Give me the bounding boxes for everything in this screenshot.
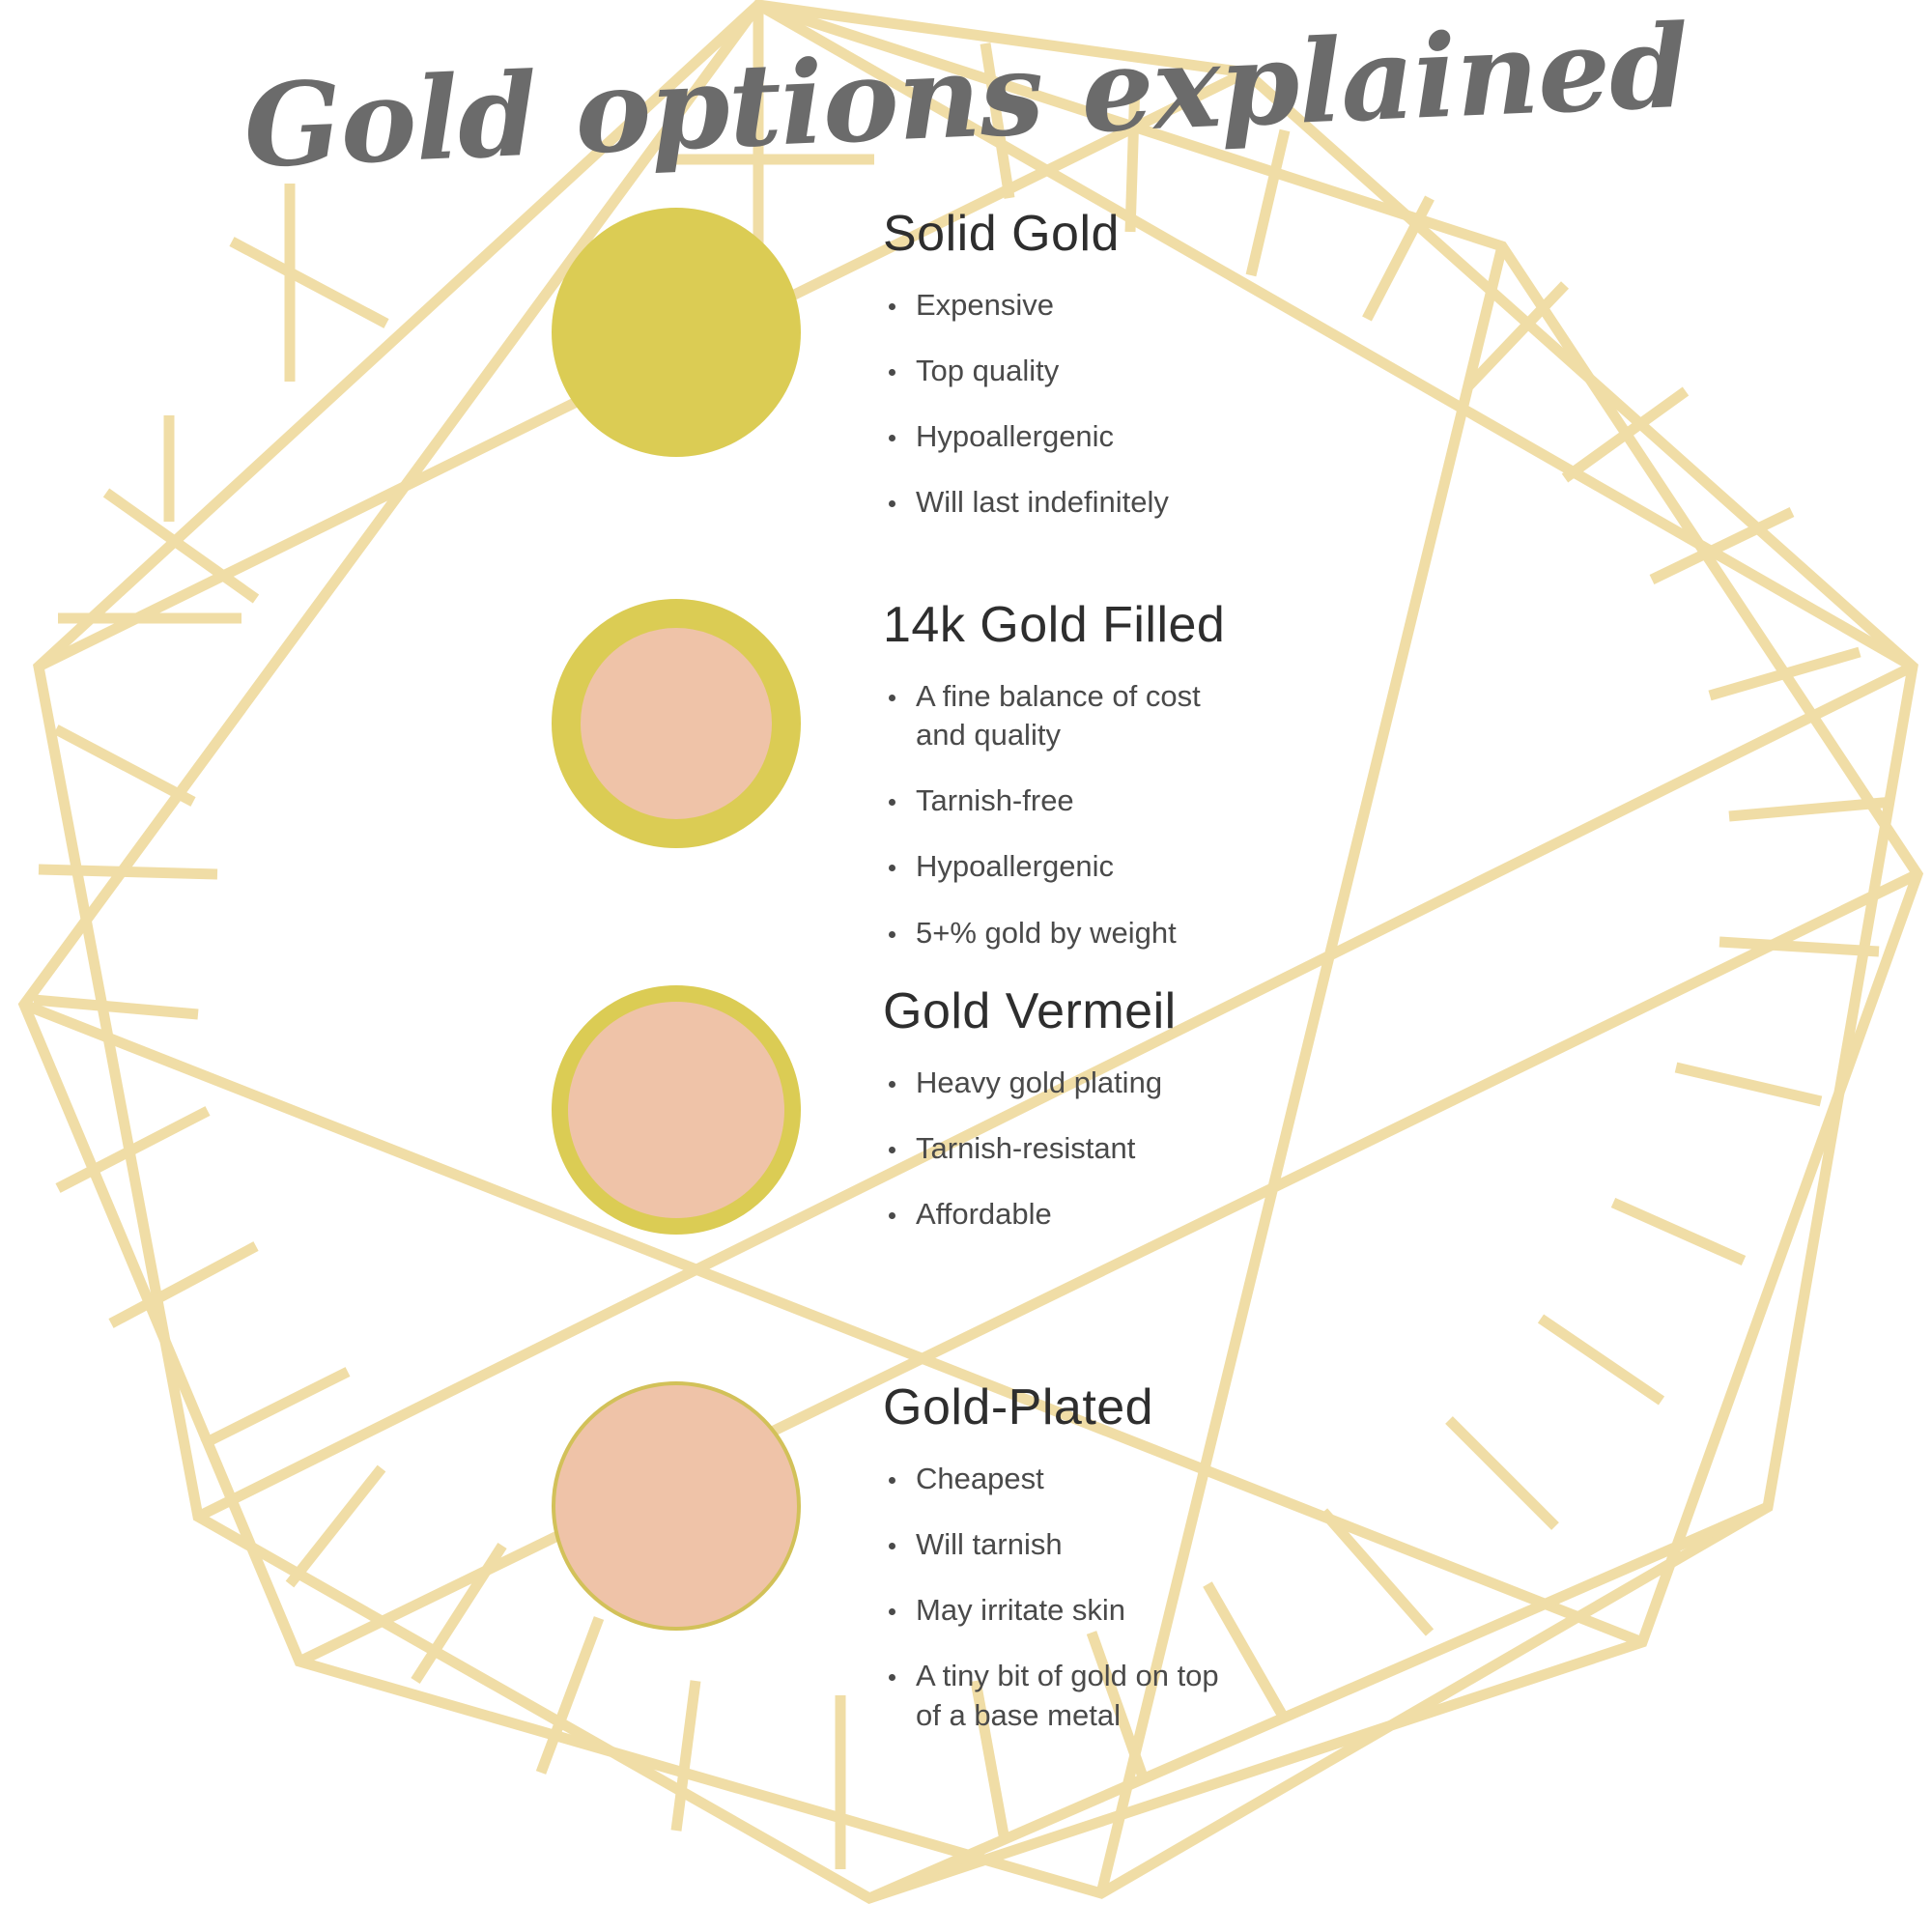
section-heading: 14k Gold Filled bbox=[883, 599, 1526, 652]
bullet-item: Tarnish-resistant bbox=[883, 1129, 1235, 1168]
gold-plated-swatch bbox=[552, 1381, 801, 1631]
bullet-item: Heavy gold plating bbox=[883, 1064, 1235, 1102]
bullet-item: Cheapest bbox=[883, 1460, 1235, 1498]
section-gold-plated: Gold-Plated Cheapest Will tarnish May ir… bbox=[502, 1381, 1526, 1735]
bullet-item: Will last indefinitely bbox=[883, 483, 1235, 522]
bullet-list: A fine balance of cost and quality Tarni… bbox=[883, 677, 1526, 952]
swatch-cell bbox=[502, 985, 850, 1235]
bullet-item: Top quality bbox=[883, 352, 1235, 390]
page-title: Gold options explained bbox=[0, 0, 1932, 197]
swatch-cell bbox=[502, 1381, 850, 1631]
bullet-list: Expensive Top quality Hypoallergenic Wil… bbox=[883, 286, 1526, 523]
gold-filled-swatch bbox=[552, 599, 801, 848]
section-heading: Solid Gold bbox=[883, 208, 1526, 261]
section-heading: Gold Vermeil bbox=[883, 985, 1526, 1038]
bullet-item: May irritate skin bbox=[883, 1591, 1235, 1630]
bullet-list: Heavy gold plating Tarnish-resistant Aff… bbox=[883, 1064, 1526, 1235]
bullet-item: 5+% gold by weight bbox=[883, 914, 1235, 952]
swatch-cell bbox=[502, 599, 850, 848]
bullet-item: Hypoallergenic bbox=[883, 847, 1235, 886]
bullet-item: Will tarnish bbox=[883, 1525, 1235, 1564]
infographic-page: Gold options explained Solid Gold Expens… bbox=[0, 0, 1932, 1932]
bullet-item: Expensive bbox=[883, 286, 1235, 325]
text-cell: 14k Gold Filled A fine balance of cost a… bbox=[850, 599, 1526, 952]
bullet-item: Tarnish-free bbox=[883, 781, 1235, 820]
bullet-item: A fine balance of cost and quality bbox=[883, 677, 1235, 755]
text-cell: Solid Gold Expensive Top quality Hypoall… bbox=[850, 208, 1526, 523]
section-heading: Gold-Plated bbox=[883, 1381, 1526, 1435]
section-gold-vermeil: Gold Vermeil Heavy gold plating Tarnish-… bbox=[502, 985, 1526, 1235]
bullet-item: A tiny bit of gold on top of a base meta… bbox=[883, 1657, 1235, 1735]
gold-vermeil-swatch bbox=[552, 985, 801, 1235]
bullet-list: Cheapest Will tarnish May irritate skin … bbox=[883, 1460, 1526, 1735]
swatch-cell bbox=[502, 208, 850, 457]
text-cell: Gold Vermeil Heavy gold plating Tarnish-… bbox=[850, 985, 1526, 1234]
section-solid-gold: Solid Gold Expensive Top quality Hypoall… bbox=[502, 208, 1526, 523]
bullet-item: Hypoallergenic bbox=[883, 417, 1235, 456]
bullet-item: Affordable bbox=[883, 1195, 1235, 1234]
section-14k-gold-filled: 14k Gold Filled A fine balance of cost a… bbox=[502, 599, 1526, 952]
text-cell: Gold-Plated Cheapest Will tarnish May ir… bbox=[850, 1381, 1526, 1735]
solid-gold-swatch bbox=[552, 208, 801, 457]
